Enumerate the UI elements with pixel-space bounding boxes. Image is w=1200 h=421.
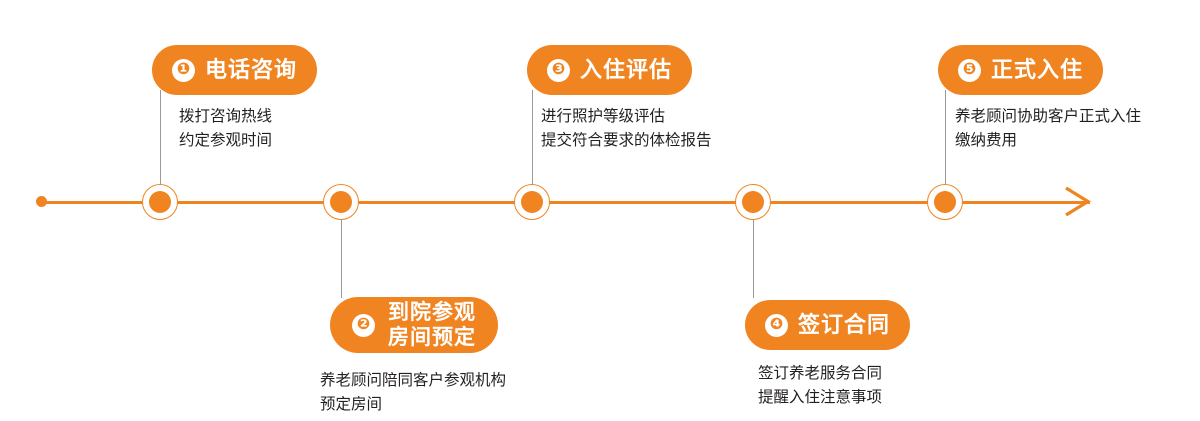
step-desc-1-line2: 约定参观时间: [179, 129, 272, 153]
step-desc-3: 进行照护等级评估 提交符合要求的体检报告: [541, 105, 712, 153]
step-pill-4[interactable]: ❹ 签订合同: [745, 300, 910, 350]
step-desc-4-line1: 签订养老服务合同: [758, 365, 882, 382]
step-desc-5-line2: 缴纳费用: [955, 129, 1141, 153]
step-pill-1[interactable]: ❶ 电话咨询: [152, 45, 317, 95]
step-number-4: ❹: [765, 314, 788, 337]
step-desc-2: 养老顾问陪同客户参观机构 预定房间: [320, 369, 506, 417]
step-desc-2-line1: 养老顾问陪同客户参观机构: [320, 372, 506, 389]
step-desc-4-line2: 提醒入住注意事项: [758, 386, 882, 410]
timeline-diagram: ❶ 电话咨询 拨打咨询热线 约定参观时间 ❷ 到院参观 房间预定 养老顾问陪同客…: [0, 0, 1200, 421]
step-title-2: 到院参观 房间预定: [388, 300, 476, 350]
step-number-2: ❷: [352, 314, 375, 337]
step-desc-2-line2: 预定房间: [320, 393, 506, 417]
step-title-4: 签订合同: [798, 312, 890, 337]
step-pill-3[interactable]: ❸ 入住评估: [527, 45, 692, 95]
step-desc-5: 养老顾问协助客户正式入住 缴纳费用: [955, 105, 1141, 153]
step-title-3: 入住评估: [580, 57, 672, 82]
timeline-marker-5[interactable]: [927, 184, 963, 220]
step-desc-3-line1: 进行照护等级评估: [541, 108, 665, 125]
step-pill-5[interactable]: ❺ 正式入住: [938, 45, 1103, 95]
step-number-5: ❺: [958, 59, 981, 82]
axis-arrow-icon: [1062, 184, 1102, 220]
timeline-marker-2[interactable]: [323, 184, 359, 220]
step-title-5: 正式入住: [991, 57, 1083, 82]
step-desc-1-line1: 拨打咨询热线: [179, 108, 272, 125]
step-number-3: ❸: [547, 59, 570, 82]
timeline-marker-3[interactable]: [514, 184, 550, 220]
step-desc-1: 拨打咨询热线 约定参观时间: [179, 105, 272, 153]
timeline-marker-4[interactable]: [735, 184, 771, 220]
step-pill-2[interactable]: ❷ 到院参观 房间预定: [330, 297, 498, 353]
step-desc-5-line1: 养老顾问协助客户正式入住: [955, 108, 1141, 125]
step-desc-4: 签订养老服务合同 提醒入住注意事项: [758, 362, 882, 410]
timeline-marker-1[interactable]: [142, 184, 178, 220]
step-title-1: 电话咨询: [205, 57, 297, 82]
step-desc-3-line2: 提交符合要求的体检报告: [541, 129, 712, 153]
step-number-1: ❶: [172, 59, 195, 82]
